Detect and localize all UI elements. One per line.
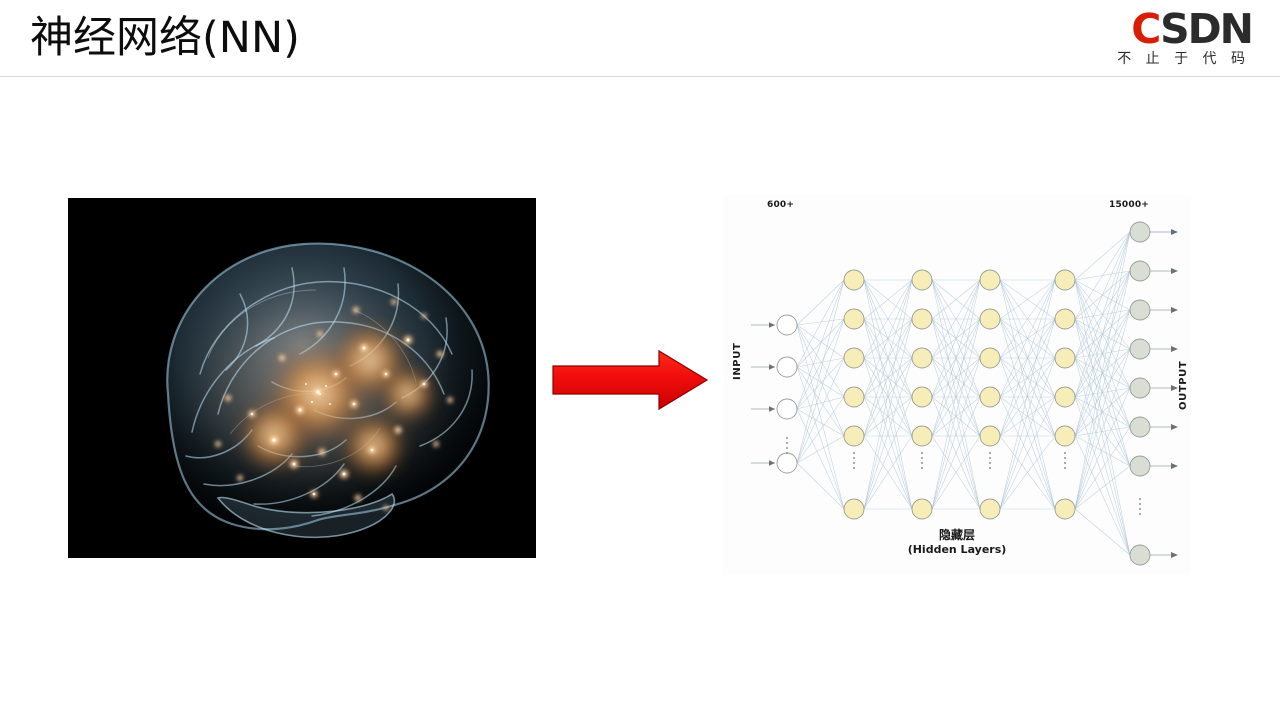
neuron-node-hidden-3 (980, 499, 1000, 519)
csdn-logo-letters-sdn: SDN (1160, 5, 1252, 53)
neuron-node-hidden-4 (1055, 309, 1075, 329)
input-count-label: 600+ (767, 200, 794, 210)
vertical-ellipsis-hidden-4 (1064, 452, 1066, 469)
neuron-node-input (777, 357, 797, 377)
input-axis-label: INPUT (732, 343, 743, 380)
neuron-node-hidden-3 (980, 387, 1000, 407)
vertical-ellipsis-hidden-3 (989, 452, 991, 469)
neuron-node-hidden-4 (1055, 499, 1075, 519)
neuron-node-hidden-3 (980, 270, 1000, 290)
neural-network-graph (723, 195, 1191, 575)
vertical-ellipsis-hidden-2 (921, 452, 923, 469)
vertical-ellipsis-output (1139, 498, 1141, 515)
neuron-node-hidden-1 (844, 270, 864, 290)
vertical-ellipsis-hidden-1 (853, 452, 855, 469)
neuron-node-hidden-2 (912, 309, 932, 329)
neuron-node-hidden-4 (1055, 348, 1075, 368)
brain-photo (68, 198, 536, 558)
neural-network-diagram: 600+ 15000+ INPUT OUTPUT 隐藏层 (Hidden Lay… (723, 195, 1191, 575)
neuron-node-output (1130, 222, 1150, 242)
hidden-layers-caption: 隐藏层 (Hidden Layers) (723, 528, 1191, 557)
neuron-node-hidden-3 (980, 348, 1000, 368)
neuron-node-hidden-2 (912, 499, 932, 519)
neuron-node-hidden-1 (844, 348, 864, 368)
slide-header: 神经网络(NN) CSDN 不 止 于 代 码 (0, 0, 1280, 77)
neuron-node-output (1130, 378, 1150, 398)
csdn-tagline: 不 止 于 代 码 (1062, 50, 1252, 68)
output-stub-arrows (1150, 229, 1178, 558)
slide-body: 600+ 15000+ INPUT OUTPUT 隐藏层 (Hidden Lay… (0, 77, 1280, 719)
vertical-ellipsis-input (786, 437, 788, 454)
neuron-node-hidden-1 (844, 426, 864, 446)
neuron-node-hidden-2 (912, 426, 932, 446)
neuron-node-input (777, 315, 797, 335)
hidden-layers-label-en: (Hidden Layers) (723, 543, 1191, 557)
csdn-logo-letter-c: C (1131, 5, 1160, 53)
neuron-node-input (777, 399, 797, 419)
network-nodes (777, 222, 1150, 565)
neuron-node-hidden-2 (912, 387, 932, 407)
csdn-logo: CSDN 不 止 于 代 码 (1062, 8, 1252, 70)
neuron-node-output (1130, 261, 1150, 281)
page-title: 神经网络(NN) (30, 8, 300, 68)
right-arrow-icon (551, 349, 709, 411)
brain-illustration (68, 198, 536, 558)
output-count-label: 15000+ (1109, 200, 1149, 210)
neuron-node-hidden-1 (844, 309, 864, 329)
neuron-node-hidden-3 (980, 426, 1000, 446)
hidden-layers-label-cn: 隐藏层 (723, 528, 1191, 543)
neuron-node-output (1130, 300, 1150, 320)
neuron-node-hidden-3 (980, 309, 1000, 329)
neuron-node-hidden-4 (1055, 270, 1075, 290)
output-axis-label: OUTPUT (1178, 361, 1189, 410)
neuron-node-output (1130, 417, 1150, 437)
neuron-node-hidden-4 (1055, 426, 1075, 446)
neuron-node-output (1130, 339, 1150, 359)
neuron-node-hidden-1 (844, 387, 864, 407)
csdn-wordmark: CSDN (1062, 8, 1252, 50)
neuron-node-hidden-2 (912, 348, 932, 368)
neuron-node-output (1130, 456, 1150, 476)
neuron-node-hidden-4 (1055, 387, 1075, 407)
input-stub-arrows (751, 322, 775, 466)
neuron-node-input (777, 453, 797, 473)
neuron-node-hidden-2 (912, 270, 932, 290)
neuron-node-hidden-1 (844, 499, 864, 519)
